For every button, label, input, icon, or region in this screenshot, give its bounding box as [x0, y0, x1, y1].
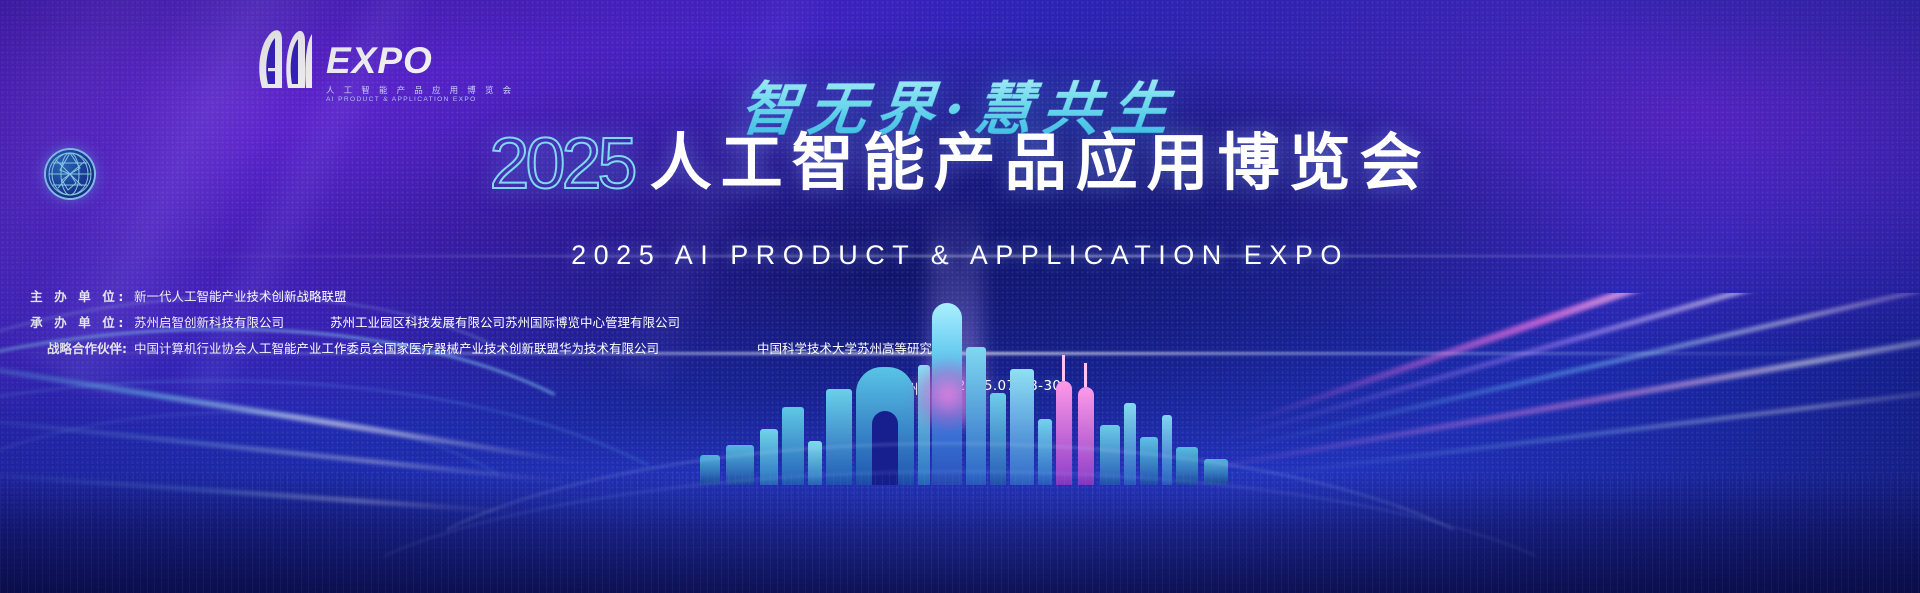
- globe-icon: [46, 150, 94, 198]
- expo-banner: EXPO 人 工 智 能 产 品 应 用 博 览 会 AI PRODUCT & …: [0, 0, 1920, 593]
- title-year: 2025: [489, 128, 633, 200]
- light-trail-streak: [1211, 293, 1920, 456]
- title-name-cn: 人工智能产品应用博览会: [638, 133, 1431, 195]
- light-trail-streak: [1147, 302, 1920, 482]
- main-title: 2025 人工智能产品应用博览会: [0, 128, 1920, 200]
- light-trails: [0, 293, 1920, 593]
